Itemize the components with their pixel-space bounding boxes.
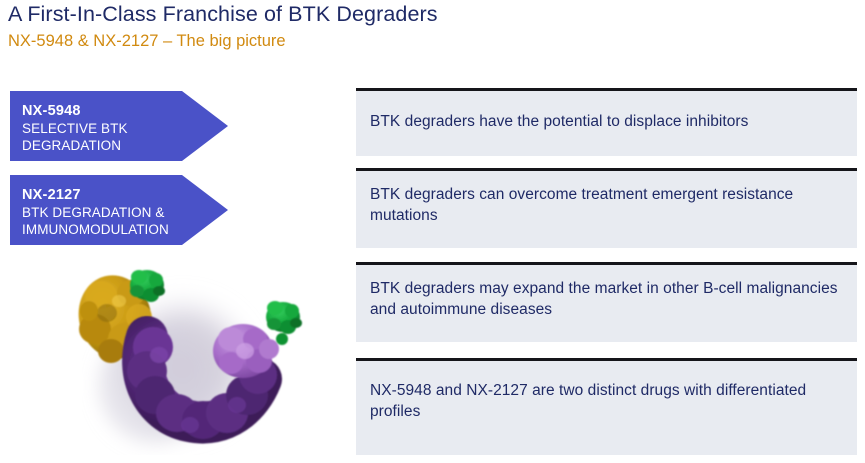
arrow-banner-description: SELECTIVE BTK DEGRADATION <box>22 121 228 154</box>
arrow-banner-nx2127: NX-2127 BTK DEGRADATION & IMMUNOMODULATI… <box>10 175 228 245</box>
green-ligand-right <box>266 301 302 345</box>
arrow-banner-description: BTK DEGRADATION & IMMUNOMODULATION <box>22 205 228 238</box>
page-subtitle: NX-5948 & NX-2127 – The big picture <box>8 32 286 51</box>
message-panel: BTK degraders have the potential to disp… <box>356 88 857 156</box>
page-title: A First-In-Class Franchise of BTK Degrad… <box>8 2 438 27</box>
message-panel: BTK degraders can overcome treatment eme… <box>356 168 857 248</box>
message-text: BTK degraders have the potential to disp… <box>370 104 843 132</box>
protein-degrader-complex-illustration <box>55 255 325 455</box>
message-panel: BTK degraders may expand the market in o… <box>356 262 857 342</box>
message-text: NX-5948 and NX-2127 are two distinct dru… <box>370 374 843 422</box>
arrow-banner-code: NX-2127 <box>22 186 228 204</box>
message-text: BTK degraders may expand the market in o… <box>370 278 843 320</box>
arrow-banner-nx5948: NX-5948 SELECTIVE BTK DEGRADATION <box>10 91 228 161</box>
message-text: BTK degraders can overcome treatment eme… <box>370 184 843 226</box>
message-panel: NX-5948 and NX-2127 are two distinct dru… <box>356 358 857 455</box>
arrow-banner-code: NX-5948 <box>22 102 228 120</box>
